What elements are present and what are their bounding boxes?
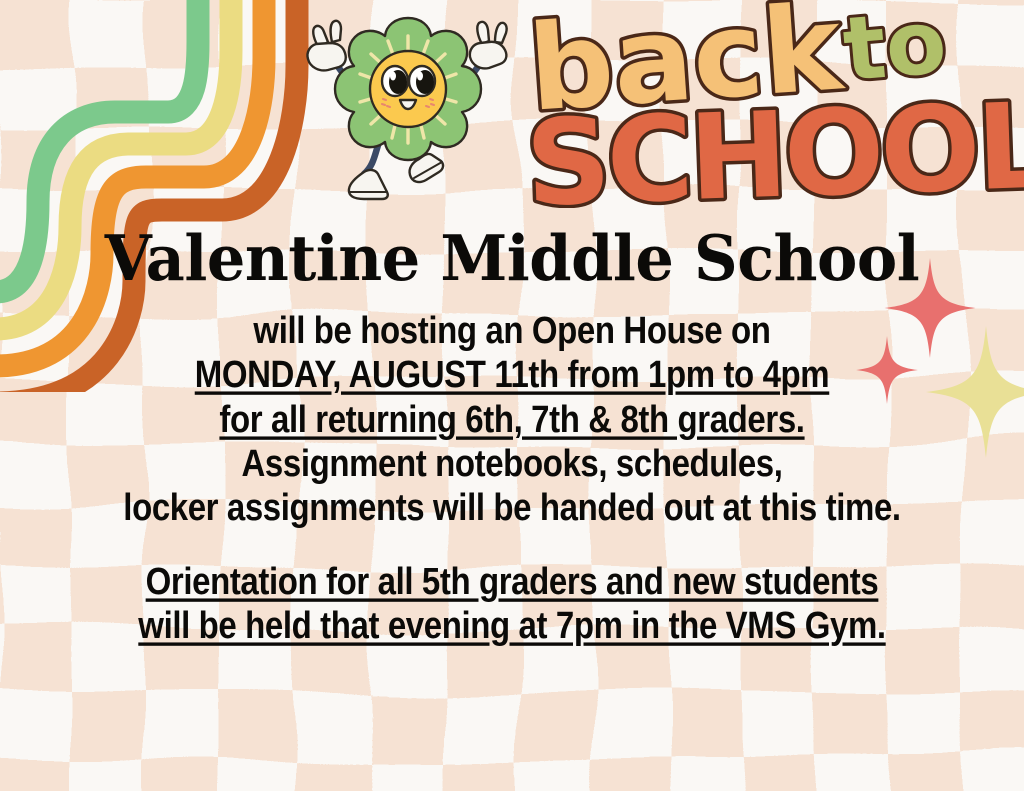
mascot-hand-right-peace-sign [470,22,507,69]
mascot-face [370,51,446,127]
wordmark-school: SCHOOL [524,76,1024,208]
mascot-shoe-left [349,170,388,199]
body-line-1: will be hosting an Open House on [15,306,1008,355]
poster-canvas: .wm { font-family: "DejaVu Sans", sans-s… [0,0,1024,791]
flower-mascot-character [292,2,524,214]
body-line-5: locker assignments will be handed out at… [15,483,1008,532]
body-line-2-date-time: MONDAY, AUGUST 11th from 1pm to 4pm [15,350,1008,399]
flyer-text-block: Valentine Middle School will be hosting … [0,226,1024,646]
body-line-4: Assignment notebooks, schedules, [15,439,1008,488]
closing-line-2-venue: will be held that evening at 7pm in the … [15,601,1008,650]
back-to-school-wordmark: .wm { font-family: "DejaVu Sans", sans-s… [524,0,1024,208]
body-line-3-grades: for all returning 6th, 7th & 8th graders… [15,395,1008,444]
page-title: Valentine Middle School [20,226,1003,290]
mascot-hand-left-peace-sign [307,21,345,71]
closing-line-1-orientation: Orientation for all 5th graders and new … [15,557,1008,606]
